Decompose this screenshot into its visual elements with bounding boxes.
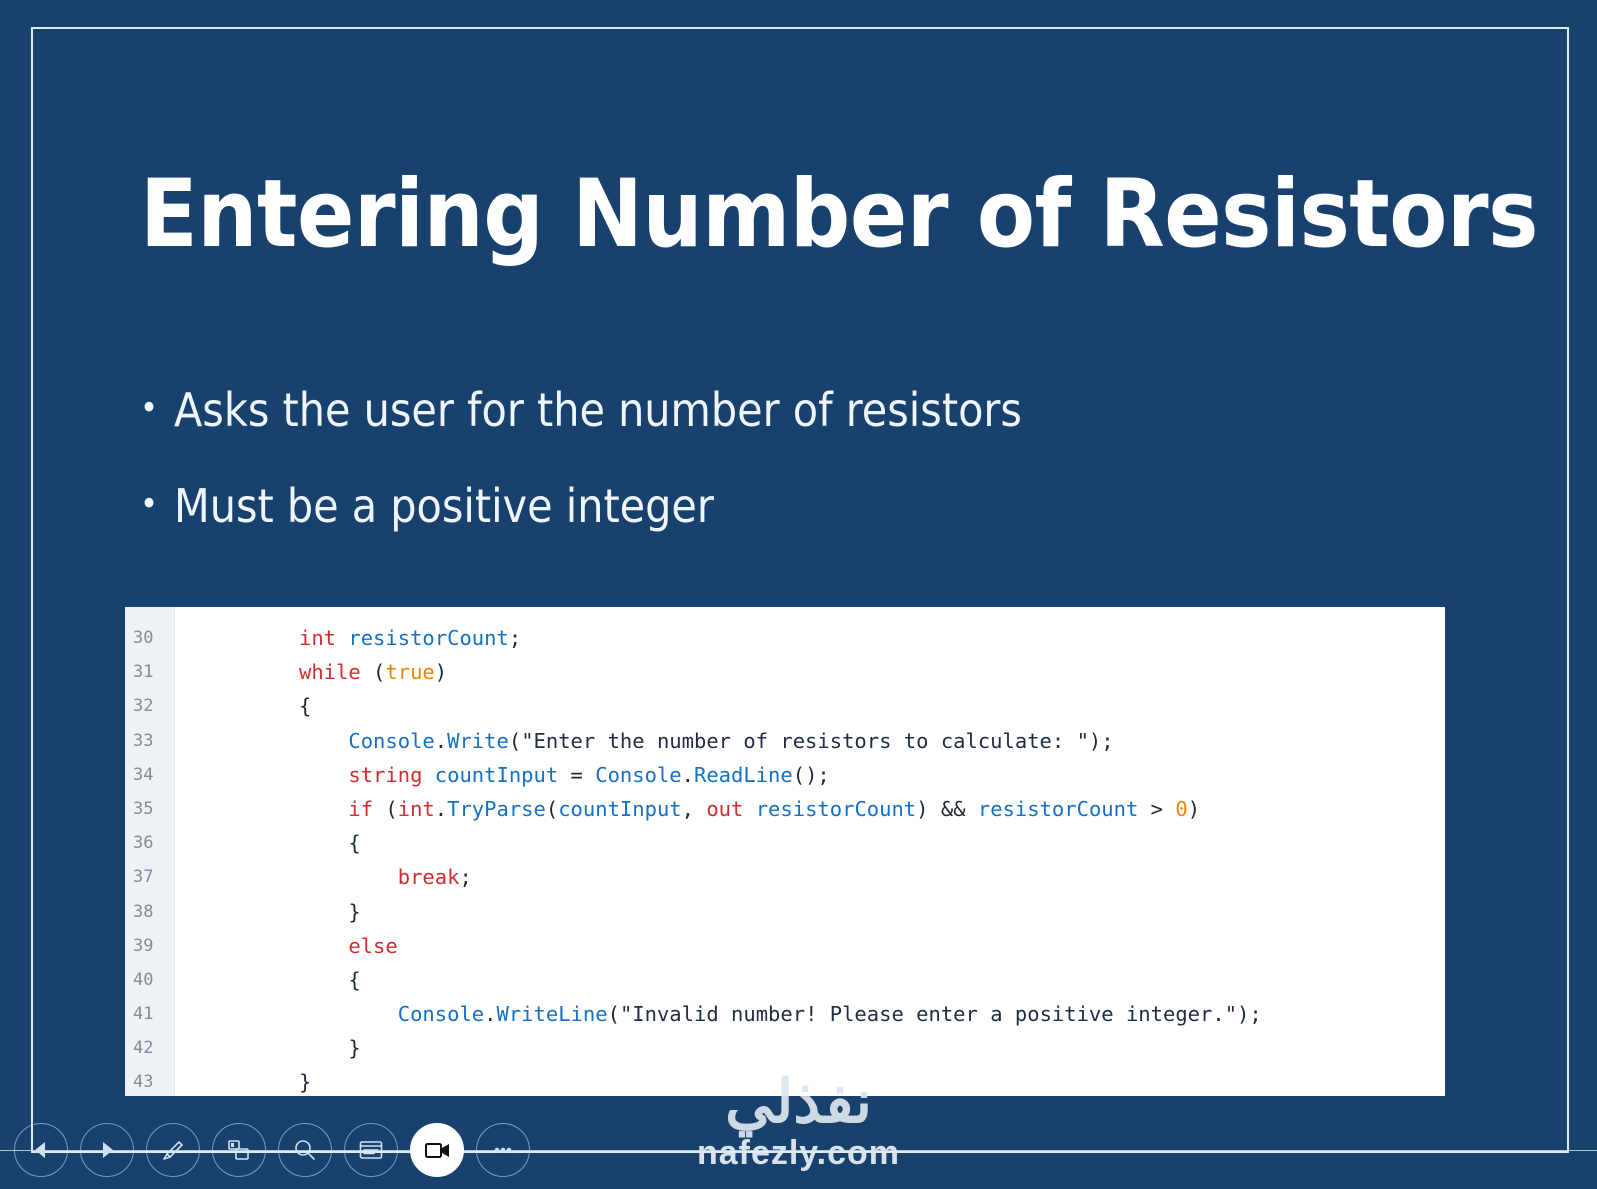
code-token	[299, 865, 398, 889]
code-token: )	[1188, 797, 1200, 821]
code-line: Console.Write("Enter the number of resis…	[299, 724, 1445, 758]
code-token: out	[706, 797, 743, 821]
magnifier-icon	[291, 1136, 319, 1164]
code-token: int	[398, 797, 435, 821]
next-slide-button[interactable]	[80, 1123, 134, 1177]
code-line: }	[299, 1065, 1445, 1096]
code-line-number: 36	[125, 826, 174, 860]
code-token: else	[348, 934, 397, 958]
bullet-list: • Asks the user for the number of resist…	[140, 386, 1340, 579]
slide-title: Entering Number of Resistors	[140, 168, 1460, 262]
code-token: );	[1089, 729, 1114, 753]
code-token: "Invalid number! Please enter a positive…	[620, 1002, 1237, 1026]
code-line: break;	[299, 860, 1445, 894]
bullet-text: Must be a positive integer	[174, 482, 1340, 530]
record-button[interactable]	[410, 1123, 464, 1177]
code-screenshot-panel: 3031323334353637383940414243 int resisto…	[125, 607, 1445, 1096]
code-token	[299, 797, 348, 821]
code-line-number: 41	[125, 997, 174, 1031]
presentation-slide: Entering Number of Resistors • Asks the …	[0, 0, 1597, 1189]
code-content: int resistorCount;while (true){ Console.…	[175, 607, 1445, 1096]
code-token: .	[484, 1002, 496, 1026]
code-token: "Enter the number of resistors to calcul…	[521, 729, 1089, 753]
ellipsis-icon	[489, 1136, 517, 1164]
code-token: (	[361, 660, 386, 684]
code-line-number: 32	[125, 689, 174, 723]
code-line: if (int.TryParse(countInput, out resisto…	[299, 792, 1445, 826]
code-line-number: 33	[125, 724, 174, 758]
subtitles-button[interactable]	[344, 1123, 398, 1177]
code-token: {	[299, 694, 311, 718]
code-token: countInput	[558, 797, 681, 821]
code-line-number: 40	[125, 963, 174, 997]
code-token: 0	[1175, 797, 1187, 821]
code-token	[299, 729, 348, 753]
list-item: • Asks the user for the number of resist…	[140, 386, 1340, 434]
code-token: )	[435, 660, 447, 684]
code-token: }	[299, 900, 361, 924]
pen-tool-button[interactable]	[146, 1123, 200, 1177]
code-line-number: 30	[125, 621, 174, 655]
code-token: Console	[398, 1002, 484, 1026]
code-line: {	[299, 689, 1445, 723]
code-line-number-gutter: 3031323334353637383940414243	[125, 607, 175, 1096]
code-token: Write	[447, 729, 509, 753]
triangle-right-icon	[94, 1137, 120, 1163]
code-token: {	[299, 831, 361, 855]
code-token: resistorCount	[348, 626, 508, 650]
code-token: string	[348, 763, 422, 787]
pen-icon	[159, 1136, 187, 1164]
bullet-text: Asks the user for the number of resistor…	[174, 386, 1340, 434]
code-line-number: 38	[125, 895, 174, 929]
code-token	[336, 626, 348, 650]
code-line-number: 34	[125, 758, 174, 792]
code-token: ;	[459, 865, 471, 889]
code-line: }	[299, 1031, 1445, 1065]
previous-slide-button[interactable]	[14, 1123, 68, 1177]
zoom-button[interactable]	[278, 1123, 332, 1177]
bullet-marker-icon: •	[140, 482, 174, 528]
slides-grid-icon	[225, 1136, 253, 1164]
code-token: resistorCount	[978, 797, 1138, 821]
code-token: countInput	[435, 763, 558, 787]
code-line: }	[299, 895, 1445, 929]
code-line-number: 37	[125, 860, 174, 894]
code-line-number: 35	[125, 792, 174, 826]
code-line-number: 39	[125, 929, 174, 963]
code-line: int resistorCount;	[299, 621, 1445, 655]
code-line: while (true)	[299, 655, 1445, 689]
code-line: {	[299, 963, 1445, 997]
code-line: Console.WriteLine("Invalid number! Pleas…	[299, 997, 1445, 1031]
code-token: }	[299, 1036, 361, 1060]
code-line-number: 31	[125, 655, 174, 689]
code-token: >	[1138, 797, 1175, 821]
code-token: (	[546, 797, 558, 821]
all-slides-button[interactable]	[212, 1123, 266, 1177]
code-token: if	[348, 797, 373, 821]
code-token: break	[398, 865, 460, 889]
code-token: ();	[793, 763, 830, 787]
more-options-button[interactable]	[476, 1123, 530, 1177]
code-token: true	[385, 660, 434, 684]
list-item: • Must be a positive integer	[140, 482, 1340, 530]
code-token: ;	[509, 626, 521, 650]
code-token	[743, 797, 755, 821]
code-token	[422, 763, 434, 787]
code-token: int	[299, 626, 336, 650]
code-token: =	[558, 763, 595, 787]
code-token: {	[299, 968, 361, 992]
triangle-left-icon	[28, 1137, 54, 1163]
code-token: TryParse	[447, 797, 546, 821]
code-token: .	[435, 797, 447, 821]
code-token: (	[509, 729, 521, 753]
code-token: (	[373, 797, 398, 821]
code-token	[299, 1002, 398, 1026]
code-token: ,	[682, 797, 707, 821]
bullet-marker-icon: •	[140, 386, 174, 432]
code-line: {	[299, 826, 1445, 860]
code-token	[299, 763, 348, 787]
subtitles-icon	[357, 1136, 385, 1164]
code-token: resistorCount	[756, 797, 916, 821]
code-token: ) &&	[916, 797, 978, 821]
code-token: while	[299, 660, 361, 684]
code-token: WriteLine	[497, 1002, 608, 1026]
code-line: string countInput = Console.ReadLine();	[299, 758, 1445, 792]
code-line-number: 43	[125, 1065, 174, 1096]
presentation-toolbar	[0, 1110, 1597, 1189]
video-camera-icon	[422, 1135, 452, 1165]
code-line-number: 42	[125, 1031, 174, 1065]
code-token: (	[608, 1002, 620, 1026]
code-token: .	[435, 729, 447, 753]
code-token: Console	[348, 729, 434, 753]
code-token: Console	[595, 763, 681, 787]
code-token: );	[1237, 1002, 1262, 1026]
code-token: .	[682, 763, 694, 787]
code-line: else	[299, 929, 1445, 963]
code-token: ReadLine	[694, 763, 793, 787]
code-token: }	[299, 1070, 311, 1094]
code-token	[299, 934, 348, 958]
